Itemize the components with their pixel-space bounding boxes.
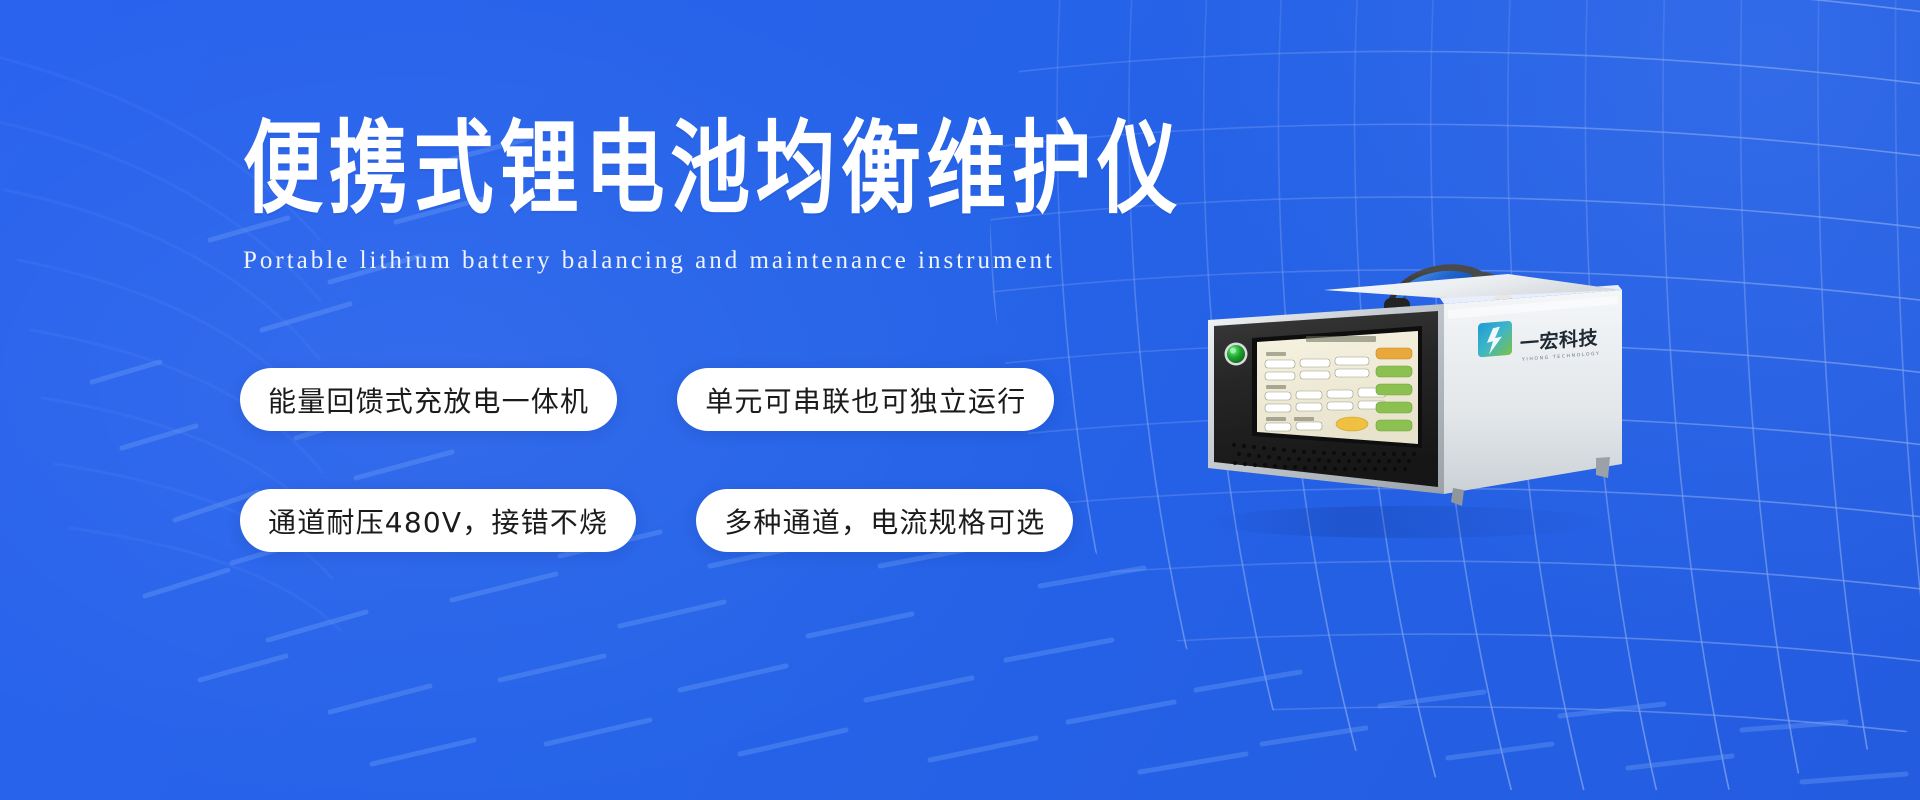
feature-pill-grid: 能量回馈式充放电一体机 单元可串联也可独立运行 通道耐压480V，接错不烧 多种… bbox=[240, 368, 1073, 552]
feature-pill-row-1: 能量回馈式充放电一体机 单元可串联也可独立运行 bbox=[240, 368, 1073, 431]
product-device-image: 一宏科技 YIHONG TECHNOLOGY bbox=[1148, 232, 1648, 562]
feature-pill-2[interactable]: 单元可串联也可独立运行 bbox=[677, 368, 1054, 431]
touchscreen bbox=[1252, 326, 1422, 448]
page-title: 便携式锂电池均衡维护仪 bbox=[243, 118, 1184, 221]
feature-pill-3[interactable]: 通道耐压480V，接错不烧 bbox=[240, 489, 636, 552]
feature-pill-1[interactable]: 能量回馈式充放电一体机 bbox=[240, 368, 617, 431]
power-button bbox=[1225, 343, 1248, 366]
feature-pill-4[interactable]: 多种通道，电流规格可选 bbox=[696, 489, 1073, 552]
headline-block: 便携式锂电池均衡维护仪 Portable lithium battery bal… bbox=[243, 118, 1223, 275]
feature-pill-row-2: 通道耐压480V，接错不烧 多种通道，电流规格可选 bbox=[240, 489, 1073, 552]
brand-logo bbox=[1478, 321, 1512, 358]
page-subtitle: Portable lithium battery balancing and m… bbox=[243, 247, 1223, 275]
promo-banner: 便携式锂电池均衡维护仪 Portable lithium battery bal… bbox=[0, 0, 1920, 800]
